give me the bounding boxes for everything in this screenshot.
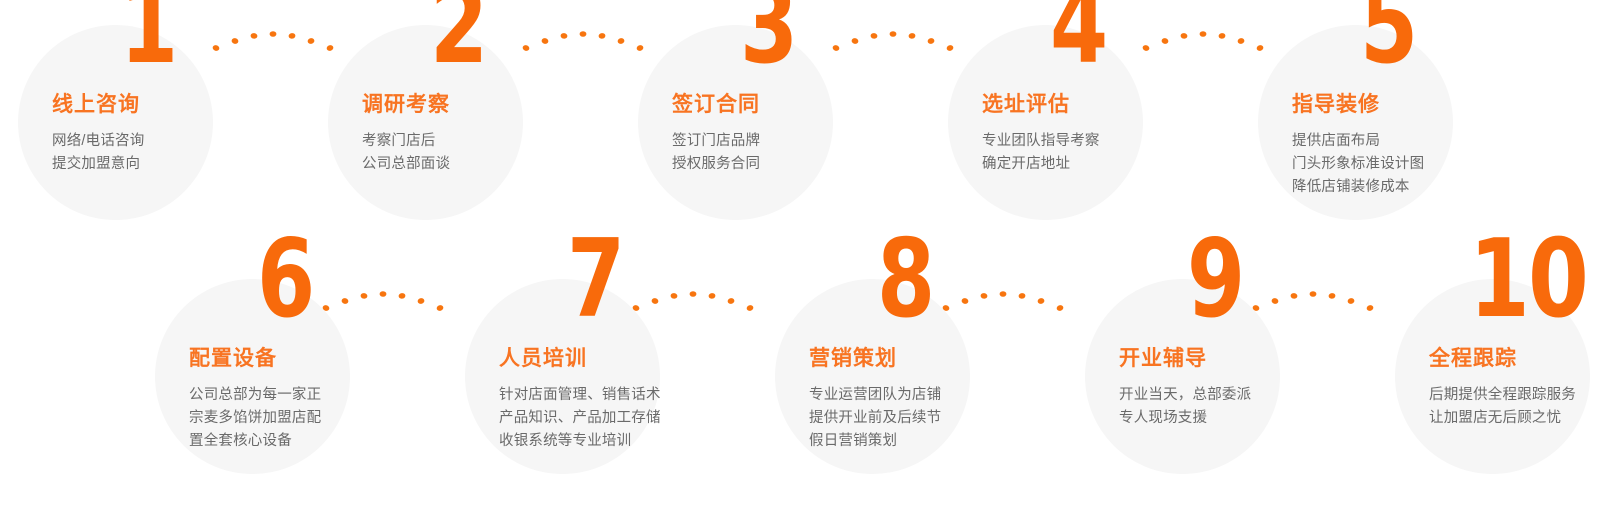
- step-description-line: 签订门店品牌: [672, 130, 922, 153]
- step-number: 9: [1187, 220, 1316, 340]
- process-step-8[interactable]: 8营销策划专业运营团队为店铺提供开业前及后续节假日营销策划: [757, 254, 1067, 508]
- step-body: 人员培训针对店面管理、销售话术产品知识、产品加工存储收银系统等专业培训: [499, 346, 749, 453]
- step-description-line: 专业团队指导考察: [982, 130, 1232, 153]
- step-body: 签订合同签订门店品牌授权服务合同: [672, 92, 922, 176]
- step-number: 6: [257, 220, 386, 340]
- step-description-line: 公司总部面谈: [362, 153, 612, 176]
- step-title: 选址评估: [982, 92, 1232, 118]
- process-step-2[interactable]: 2调研考察考察门店后公司总部面谈: [310, 0, 620, 254]
- step-title: 全程跟踪: [1429, 346, 1606, 372]
- process-step-7[interactable]: 7人员培训针对店面管理、销售话术产品知识、产品加工存储收银系统等专业培训: [447, 254, 757, 508]
- step-number: 8: [877, 220, 1006, 340]
- step-title: 调研考察: [362, 92, 612, 118]
- step-description: 提供店面布局门头形象标准设计图降低店铺装修成本: [1292, 130, 1542, 199]
- step-body: 配置设备公司总部为每一家正宗麦多馅饼加盟店配置全套核心设备: [189, 346, 439, 453]
- step-title: 签订合同: [672, 92, 922, 118]
- process-step-9[interactable]: 9开业辅导开业当天，总部委派专人现场支援: [1067, 254, 1377, 508]
- process-step-10[interactable]: 10全程跟踪后期提供全程跟踪服务让加盟店无后顾之忧: [1377, 254, 1606, 508]
- step-body: 选址评估专业团队指导考察确定开店地址: [982, 92, 1232, 176]
- step-description: 针对店面管理、销售话术产品知识、产品加工存储收银系统等专业培训: [499, 384, 749, 453]
- step-description-line: 提交加盟意向: [52, 153, 302, 176]
- franchise-process-flow: 1线上咨询网络/电话咨询提交加盟意向2调研考察考察门店后公司总部面谈3签订合同签…: [0, 0, 1606, 508]
- step-body: 指导装修提供店面布局门头形象标准设计图降低店铺装修成本: [1292, 92, 1542, 199]
- step-description-line: 针对店面管理、销售话术: [499, 384, 749, 407]
- process-row-bottom: 6配置设备公司总部为每一家正宗麦多馅饼加盟店配置全套核心设备7人员培训针对店面管…: [0, 254, 1606, 508]
- step-description-line: 产品知识、产品加工存储: [499, 407, 749, 430]
- step-body: 线上咨询网络/电话咨询提交加盟意向: [52, 92, 302, 176]
- step-description: 专业团队指导考察确定开店地址: [982, 130, 1232, 176]
- step-description: 专业运营团队为店铺提供开业前及后续节假日营销策划: [809, 384, 1059, 453]
- step-number: 2: [430, 0, 559, 86]
- step-description: 考察门店后公司总部面谈: [362, 130, 612, 176]
- step-description-line: 提供开业前及后续节: [809, 407, 1059, 430]
- step-number: 3: [740, 0, 869, 86]
- process-step-6[interactable]: 6配置设备公司总部为每一家正宗麦多馅饼加盟店配置全套核心设备: [137, 254, 447, 508]
- step-description-line: 降低店铺装修成本: [1292, 176, 1542, 199]
- step-number: 5: [1360, 0, 1489, 86]
- step-title: 人员培训: [499, 346, 749, 372]
- step-description-line: 置全套核心设备: [189, 430, 439, 453]
- step-description-line: 提供店面布局: [1292, 130, 1542, 153]
- step-body: 营销策划专业运营团队为店铺提供开业前及后续节假日营销策划: [809, 346, 1059, 453]
- step-title: 指导装修: [1292, 92, 1542, 118]
- step-number: 10: [1469, 220, 1604, 340]
- step-description-line: 让加盟店无后顾之忧: [1429, 407, 1606, 430]
- step-title: 线上咨询: [52, 92, 302, 118]
- step-description-line: 收银系统等专业培训: [499, 430, 749, 453]
- step-title: 开业辅导: [1119, 346, 1369, 372]
- process-step-4[interactable]: 4选址评估专业团队指导考察确定开店地址: [930, 0, 1240, 254]
- step-description-line: 后期提供全程跟踪服务: [1429, 384, 1606, 407]
- process-row-top: 1线上咨询网络/电话咨询提交加盟意向2调研考察考察门店后公司总部面谈3签订合同签…: [0, 0, 1606, 254]
- process-step-5[interactable]: 5指导装修提供店面布局门头形象标准设计图降低店铺装修成本: [1240, 0, 1550, 254]
- step-description-line: 专业运营团队为店铺: [809, 384, 1059, 407]
- step-number: 1: [120, 0, 249, 86]
- process-step-1[interactable]: 1线上咨询网络/电话咨询提交加盟意向: [0, 0, 310, 254]
- step-description-line: 确定开店地址: [982, 153, 1232, 176]
- step-body: 开业辅导开业当天，总部委派专人现场支援: [1119, 346, 1369, 430]
- step-description: 后期提供全程跟踪服务让加盟店无后顾之忧: [1429, 384, 1606, 430]
- step-description-line: 开业当天，总部委派: [1119, 384, 1369, 407]
- step-title: 营销策划: [809, 346, 1059, 372]
- step-body: 全程跟踪后期提供全程跟踪服务让加盟店无后顾之忧: [1429, 346, 1606, 430]
- step-description-line: 门头形象标准设计图: [1292, 153, 1542, 176]
- step-description-line: 考察门店后: [362, 130, 612, 153]
- step-number: 7: [567, 220, 696, 340]
- step-description-line: 专人现场支援: [1119, 407, 1369, 430]
- step-description: 公司总部为每一家正宗麦多馅饼加盟店配置全套核心设备: [189, 384, 439, 453]
- step-description-line: 宗麦多馅饼加盟店配: [189, 407, 439, 430]
- step-description: 开业当天，总部委派专人现场支援: [1119, 384, 1369, 430]
- step-description-line: 网络/电话咨询: [52, 130, 302, 153]
- step-body: 调研考察考察门店后公司总部面谈: [362, 92, 612, 176]
- step-description-line: 公司总部为每一家正: [189, 384, 439, 407]
- step-description: 网络/电话咨询提交加盟意向: [52, 130, 302, 176]
- process-step-3[interactable]: 3签订合同签订门店品牌授权服务合同: [620, 0, 930, 254]
- step-description-line: 假日营销策划: [809, 430, 1059, 453]
- step-description-line: 授权服务合同: [672, 153, 922, 176]
- step-description: 签订门店品牌授权服务合同: [672, 130, 922, 176]
- step-number: 4: [1050, 0, 1179, 86]
- step-title: 配置设备: [189, 346, 439, 372]
